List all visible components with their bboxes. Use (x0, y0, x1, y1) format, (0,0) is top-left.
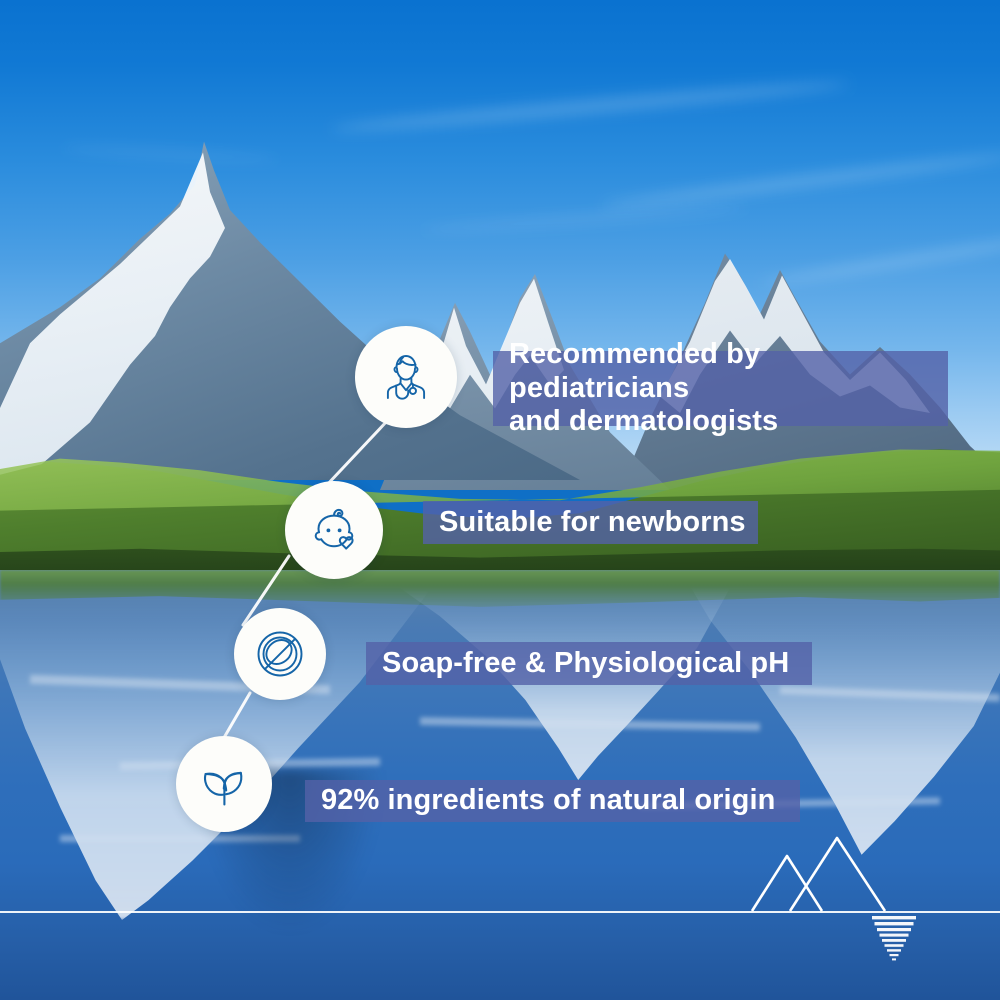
logo-waterline (0, 911, 1000, 913)
benefit-label-line: Soap-free & Physiological pH (382, 647, 789, 681)
benefit-badge-pediatricians[interactable] (355, 326, 457, 428)
doctor-icon (374, 345, 438, 409)
benefit-label-pediatricians: Recommended by pediatricians and dermato… (493, 351, 948, 426)
infographic-canvas: Recommended by pediatricians and dermato… (0, 0, 1000, 1000)
baby-face-icon (302, 498, 366, 562)
benefit-badge-natural-origin[interactable] (176, 736, 272, 832)
leaf-icon (193, 753, 255, 815)
benefit-label-line: Recommended by pediatricians (509, 338, 948, 406)
benefit-badge-newborns[interactable] (285, 481, 383, 579)
benefit-label-soap-free: Soap-free & Physiological pH (366, 642, 812, 685)
no-soap-prohibited-icon (250, 624, 310, 684)
benefit-label-line: and dermatologists (509, 405, 948, 439)
background-photo (0, 0, 1000, 1000)
reflection-peak (400, 588, 730, 788)
lake-reflection (0, 570, 1000, 930)
benefit-badge-soap-free[interactable] (234, 608, 326, 700)
benefit-label-natural-origin: 92% ingredients of natural origin (305, 780, 800, 822)
benefit-label-line: Suitable for newborns (439, 506, 746, 540)
benefit-label-line: 92% ingredients of natural origin (321, 784, 775, 818)
benefit-label-newborns: Suitable for newborns (423, 501, 758, 544)
